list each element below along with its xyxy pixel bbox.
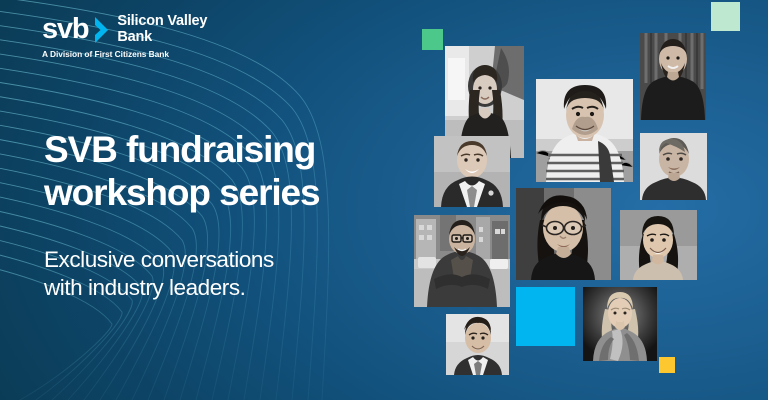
svb-promo-banner: svb Silicon Valley Bank A Division of Fi… bbox=[0, 0, 768, 400]
page-title: SVB fundraising workshop series bbox=[44, 129, 414, 215]
photo-woman-smiling bbox=[620, 210, 697, 280]
svb-wordmark: svb bbox=[42, 15, 88, 44]
svb-logo-lockup[interactable]: svb Silicon Valley Bank A Division of Fi… bbox=[42, 14, 207, 59]
photo-man-suit-bottom bbox=[446, 314, 509, 375]
green-square bbox=[422, 29, 443, 50]
photo-man-glasses-city bbox=[414, 215, 510, 307]
photo-bearded-man bbox=[640, 33, 706, 120]
cyan-square bbox=[516, 287, 575, 346]
page-subtitle: Exclusive conversations with industry le… bbox=[44, 246, 384, 303]
photo-blonde-woman bbox=[583, 287, 657, 361]
mint-square bbox=[711, 2, 740, 31]
photo-woman-glasses bbox=[516, 188, 611, 280]
chevron-right-icon bbox=[95, 17, 110, 43]
svb-logo-tagline: A Division of First Citizens Bank bbox=[42, 49, 207, 59]
photo-man-dark-tee bbox=[640, 133, 707, 200]
photo-man-striped-shirt bbox=[536, 79, 633, 182]
svb-logo-name: Silicon Valley Bank bbox=[117, 14, 207, 45]
yellow-square bbox=[659, 357, 675, 373]
photo-man-suit-tie bbox=[434, 136, 510, 207]
